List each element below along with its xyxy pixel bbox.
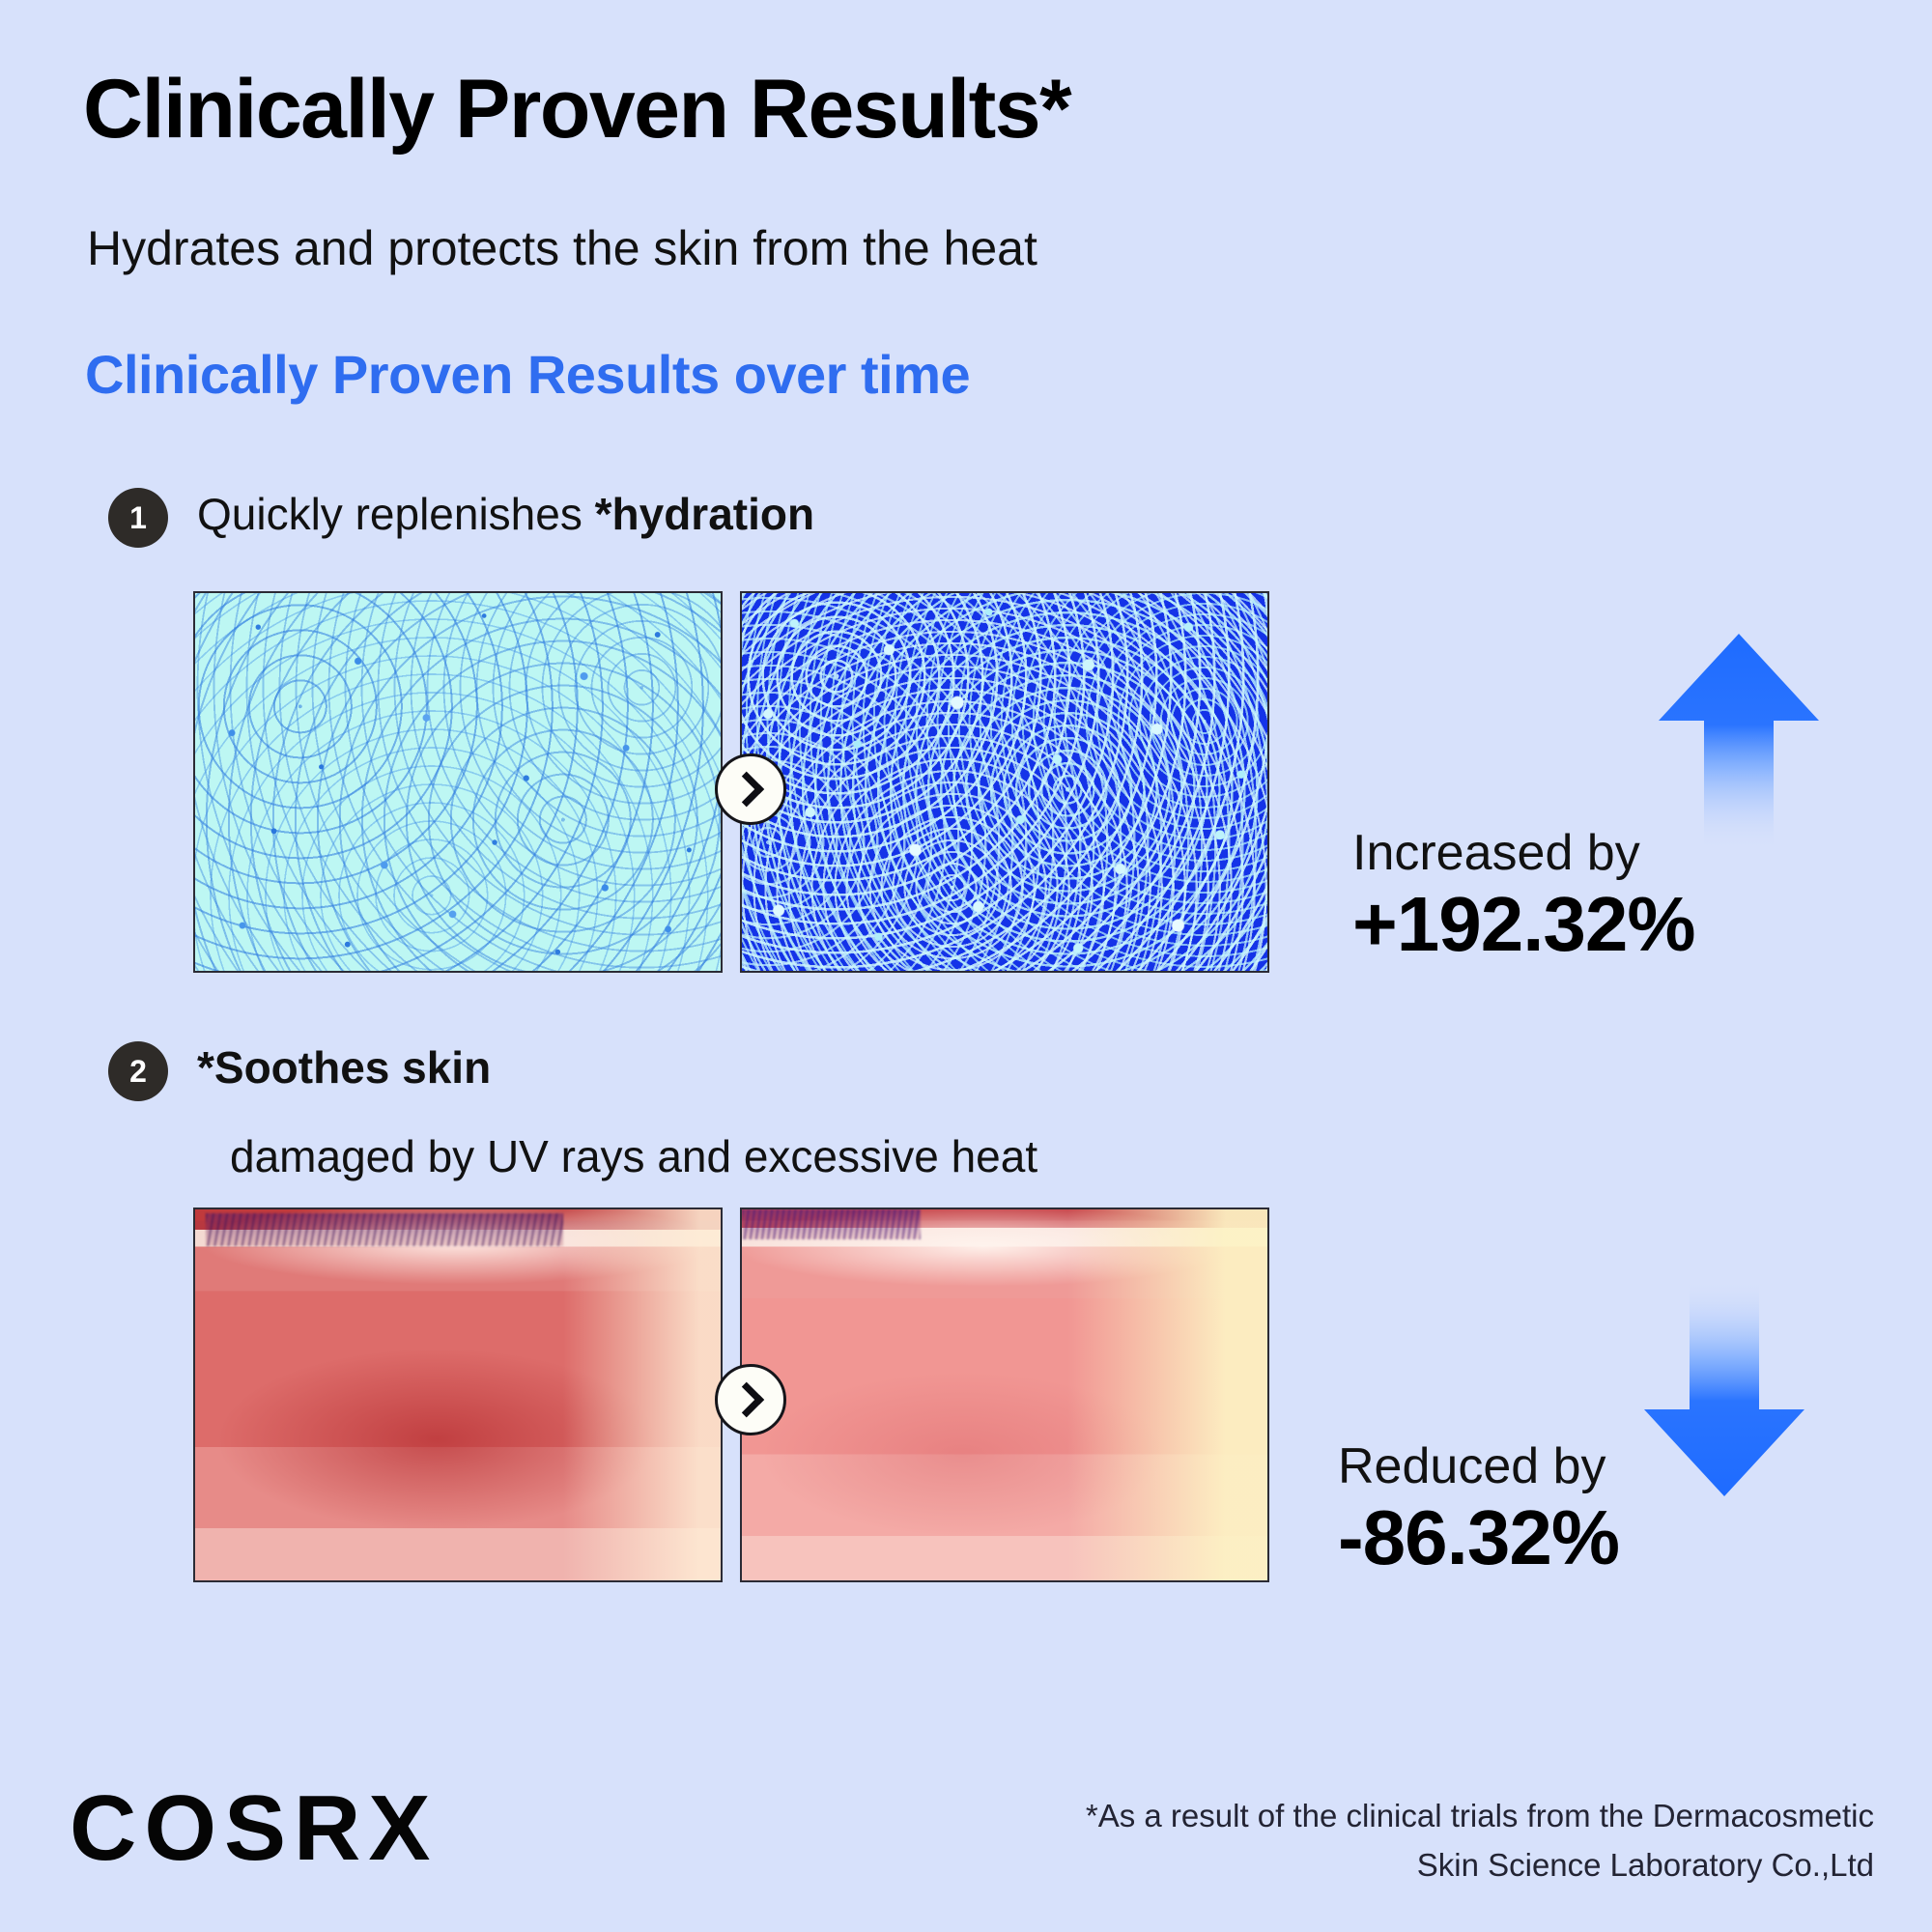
arrow-up-icon [1657,628,1821,850]
disclaimer-line-2: Skin Science Laboratory Co.,Ltd [1086,1840,1874,1889]
stat-value-2: -86.32% [1338,1494,1619,1581]
step-number-badge-2: 2 [108,1041,168,1101]
stat-soothing: Reduced by -86.32% [1338,1439,1619,1581]
infographic-page: Clinically Proven Results* Hydrates and … [0,0,1932,1932]
brand-logo: COSRX [70,1776,438,1882]
section-title: Clinically Proven Results over time [85,343,970,406]
hydration-after-image [740,591,1269,973]
stat-label-1: Increased by [1352,826,1695,881]
chevron-right-icon-2[interactable] [715,1364,786,1435]
list-item-1: 1 Quickly replenishes *hydration [108,488,814,548]
page-title: Clinically Proven Results* [83,66,1070,153]
stat-hydration: Increased by +192.32% [1352,826,1695,968]
stat-label-2: Reduced by [1338,1439,1619,1494]
list-item-1-label: Quickly replenishes *hydration [197,488,814,540]
chevron-glyph [728,772,764,808]
disclaimer: *As a result of the clinical trials from… [1086,1791,1874,1889]
item-1-text-plain: Quickly replenishes [197,489,595,539]
chevron-right-icon[interactable] [715,753,786,825]
chevron-glyph-2 [728,1382,764,1418]
item-1-text-bold: *hydration [595,489,814,539]
page-subtitle: Hydrates and protects the skin from the … [87,220,1037,276]
hydration-before-image [193,591,723,973]
list-item-2-sublabel: damaged by UV rays and excessive heat [230,1130,1037,1182]
soothing-after-image [740,1207,1269,1582]
stat-value-1: +192.32% [1352,881,1695,968]
arrow-down-icon [1642,1280,1806,1502]
list-item-2-label: *Soothes skin [197,1041,491,1094]
soothing-before-image [193,1207,723,1582]
disclaimer-line-1: *As a result of the clinical trials from… [1086,1791,1874,1840]
list-item-2: 2 *Soothes skin [108,1041,491,1101]
step-number-badge-1: 1 [108,488,168,548]
item-2-text-bold: *Soothes skin [197,1042,491,1093]
